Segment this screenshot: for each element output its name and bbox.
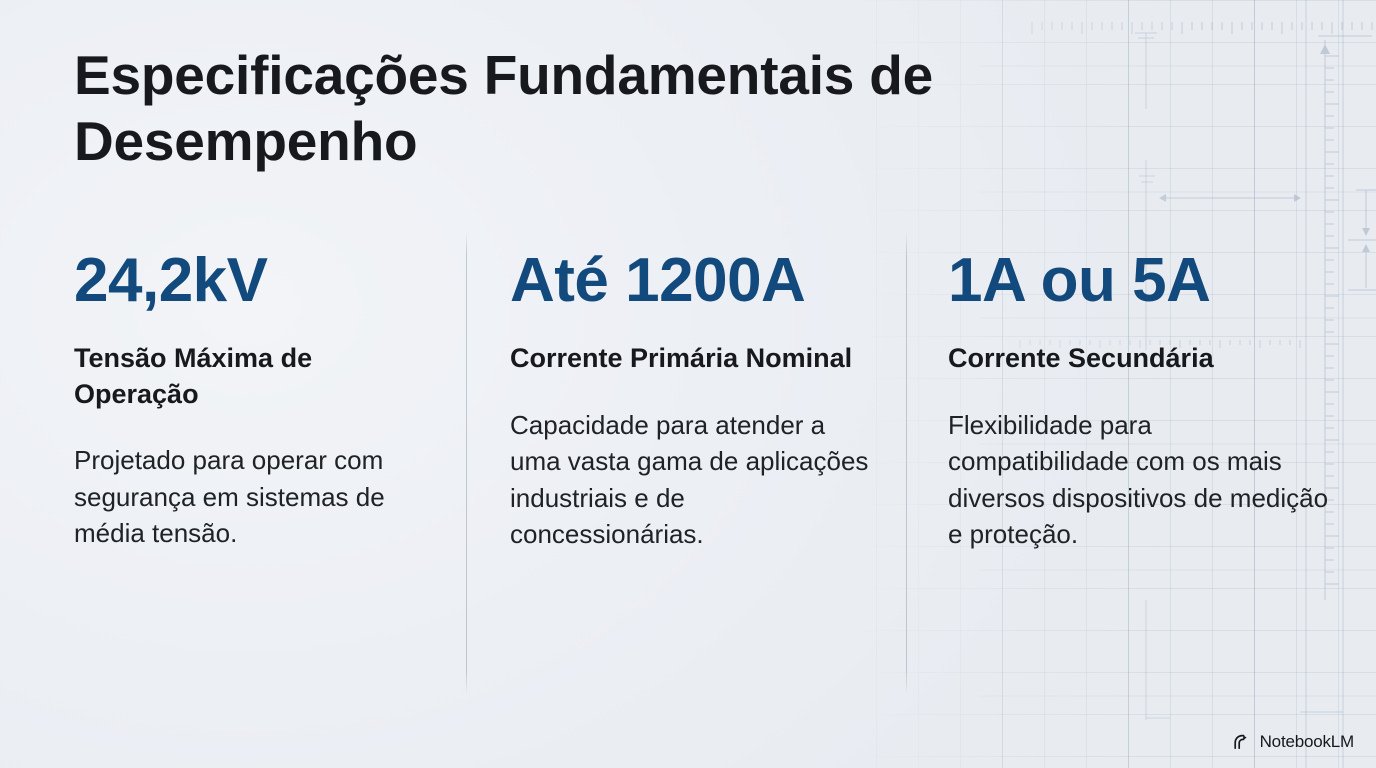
spec-description-corrente-secundaria: Flexibilidade para compatibilidade com o… [948,407,1336,553]
specs-columns: 24,2kV Tensão Máxima de Operação Projeta… [0,230,1376,700]
spec-description-corrente-primaria: Capacidade para atender a uma vasta gama… [510,407,876,553]
slide-content: Especificações Fundamentais de Desempenh… [0,0,1376,768]
spec-label-corrente-secundaria: Corrente Secundária [948,341,1336,377]
spec-column-tensao-maxima: 24,2kV Tensão Máxima de Operação Projeta… [0,230,466,700]
spec-column-corrente-secundaria: 1A ou 5A Corrente Secundária Flexibilida… [906,230,1376,700]
notebooklm-spiral-icon [1233,734,1253,750]
spec-value-tensao-maxima: 24,2kV [74,248,432,313]
spec-label-corrente-primaria: Corrente Primária Nominal [510,341,876,377]
page-title: Especificações Fundamentais de Desempenh… [74,42,974,174]
notebooklm-watermark: NotebookLM [1233,732,1354,752]
notebooklm-watermark-label: NotebookLM [1260,732,1354,752]
spec-description-tensao-maxima: Projetado para operar com segurança em s… [74,442,432,551]
slide-root: Especificações Fundamentais de Desempenh… [0,0,1376,768]
spec-value-corrente-primaria: Até 1200A [510,248,876,313]
spec-column-corrente-primaria: Até 1200A Corrente Primária Nominal Capa… [466,230,906,700]
spec-label-tensao-maxima: Tensão Máxima de Operação [74,341,432,412]
spec-value-corrente-secundaria: 1A ou 5A [948,248,1336,313]
